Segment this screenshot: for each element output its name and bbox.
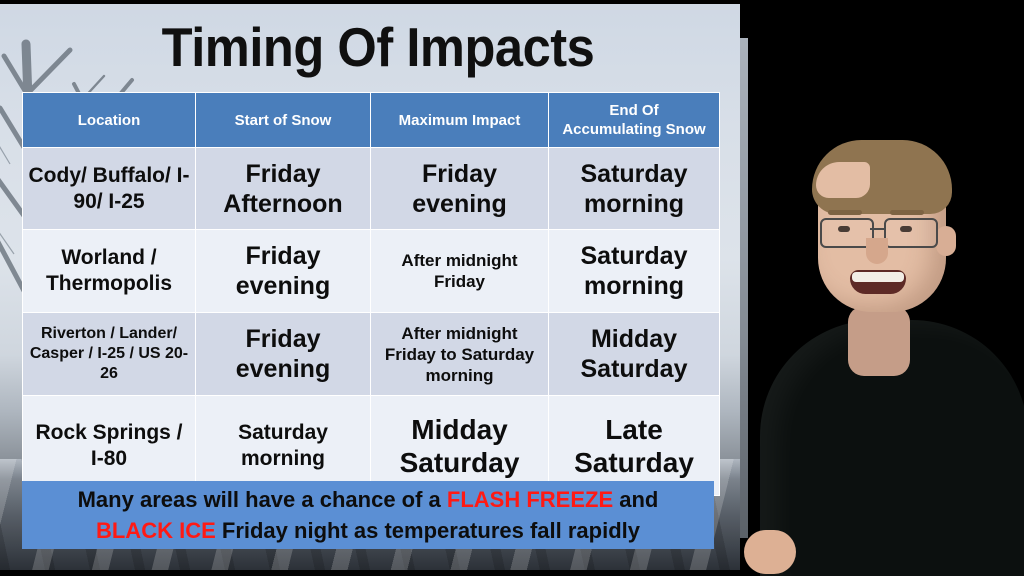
timing-of-impacts-table: Location Start of Snow Maximum Impact En… — [22, 92, 720, 496]
cell-maximum-impact: Friday evening — [371, 148, 549, 230]
banner-line1-text-b: and — [613, 487, 658, 512]
table-row: Cody/ Buffalo/ I-90/ I-25 Friday Afterno… — [23, 148, 720, 230]
column-header-end-of-line1: End Of — [609, 102, 658, 119]
presenter-eyebrow-left — [828, 210, 862, 215]
cell-location: Cody/ Buffalo/ I-90/ I-25 — [23, 148, 196, 230]
slide-edge-sliver — [740, 38, 748, 538]
banner-flash-freeze-highlight: FLASH FREEZE — [447, 487, 613, 512]
warning-banner-line1: Many areas will have a chance of a FLASH… — [78, 484, 659, 515]
cell-start-of-snow: Friday Afternoon — [196, 148, 371, 230]
cell-maximum-impact: After midnight Friday — [371, 230, 549, 313]
glasses-lens-right — [884, 218, 938, 248]
cell-location: Worland / Thermopolis — [23, 230, 196, 313]
column-header-end-of-accumulating-snow: End Of Accumulating Snow — [549, 93, 720, 148]
cell-end-of-accumulating-snow: Saturday morning — [549, 230, 720, 313]
presenter-eyebrow-right — [890, 210, 924, 215]
cell-maximum-impact: After midnight Friday to Saturday mornin… — [371, 313, 549, 396]
cell-start-of-snow: Friday evening — [196, 313, 371, 396]
presenter-mouth — [850, 270, 906, 294]
cell-location: Riverton / Lander/ Casper / I-25 / US 20… — [23, 313, 196, 396]
column-header-start-of-snow: Start of Snow — [196, 93, 371, 148]
banner-line1-text-a: Many areas will have a chance of a — [78, 487, 447, 512]
table-row: Worland / Thermopolis Friday evening Aft… — [23, 230, 720, 313]
page-title: Timing Of Impacts — [30, 16, 726, 78]
warning-banner: Many areas will have a chance of a FLASH… — [22, 481, 714, 549]
warning-banner-line2: BLACK ICE Friday night as temperatures f… — [96, 515, 640, 546]
cell-start-of-snow: Friday evening — [196, 230, 371, 313]
banner-black-ice-highlight: BLACK ICE — [96, 518, 216, 543]
column-header-end-of-line2: Accumulating Snow — [562, 121, 705, 138]
column-header-maximum-impact: Maximum Impact — [371, 93, 549, 148]
glasses-bridge — [870, 228, 884, 230]
weather-slide: Timing Of Impacts Location Start of Snow… — [0, 4, 756, 570]
presenter-neck — [848, 306, 910, 376]
presenter-hair — [812, 140, 952, 214]
presenter-video — [740, 0, 1024, 576]
presenter-hand — [744, 530, 796, 574]
presenter-nose — [866, 238, 888, 264]
column-header-location: Location — [23, 93, 196, 148]
broadcast-frame: Timing Of Impacts Location Start of Snow… — [0, 0, 1024, 576]
cell-end-of-accumulating-snow: Saturday morning — [549, 148, 720, 230]
table-header-row: Location Start of Snow Maximum Impact En… — [23, 93, 720, 148]
cell-end-of-accumulating-snow: Midday Saturday — [549, 313, 720, 396]
table-row: Riverton / Lander/ Casper / I-25 / US 20… — [23, 313, 720, 396]
banner-line2-text: Friday night as temperatures fall rapidl… — [216, 518, 640, 543]
